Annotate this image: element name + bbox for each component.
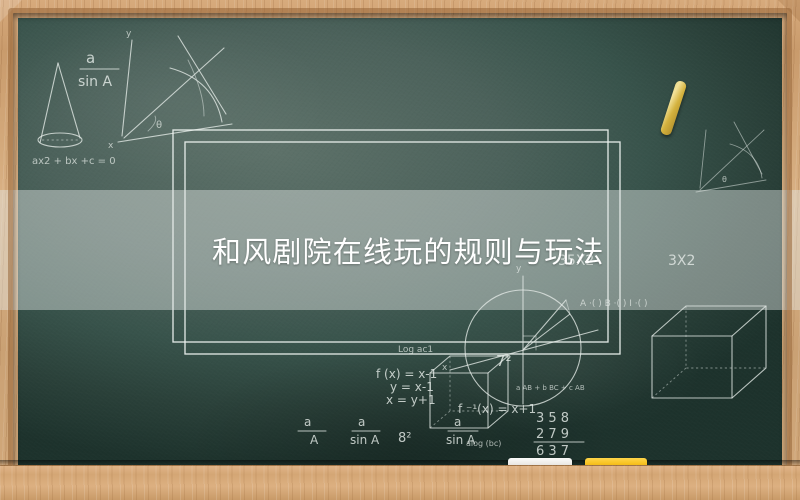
board-bevel — [13, 13, 787, 470]
screenshot-root: a sin A ax2 + bx +c = 0 y x θ — [0, 0, 800, 500]
chalk-ledge — [0, 465, 800, 500]
